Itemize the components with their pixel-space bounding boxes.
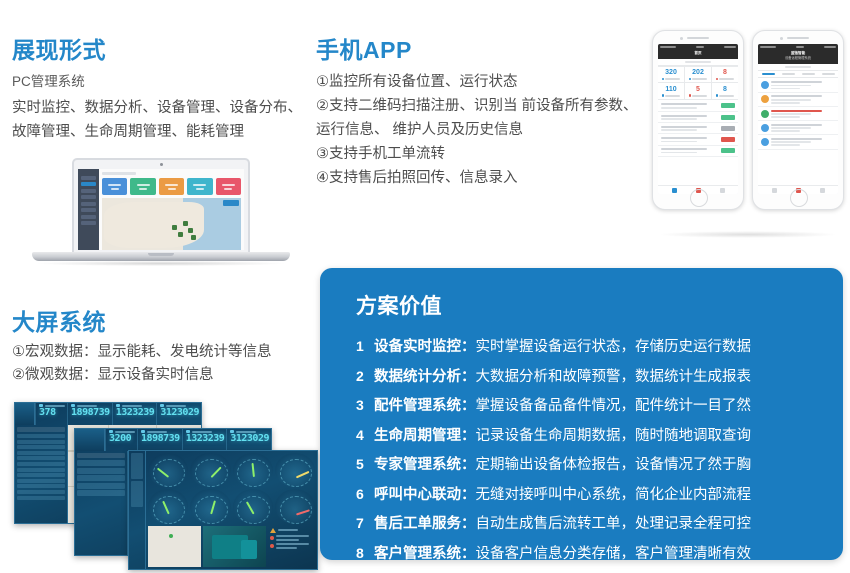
phone1-nav-title: 首页 xyxy=(658,49,738,59)
section-app: 手机APP ①监控所有设备位置、运行状态 ②支持二维码扫描注册、识别当 前设备所… xyxy=(316,38,646,190)
stat-card-green xyxy=(130,178,155,195)
list-item[interactable] xyxy=(758,135,838,149)
kpi-value: 378 xyxy=(39,407,65,419)
bigscreen2-logo xyxy=(75,429,105,451)
phones-shadow xyxy=(658,231,838,238)
value-item-colon: ： xyxy=(461,363,476,392)
value-item-name: 生命周期管理 xyxy=(374,422,461,451)
status-badge xyxy=(721,148,735,153)
value-item-colon: ： xyxy=(461,333,476,362)
value-item: 8客户管理系统：设备客户信息分类存储，客户管理清晰有效 xyxy=(356,539,817,569)
value-item: 5专家管理系统：定期输出设备体检报告，设备情况了然于胸 xyxy=(356,450,817,480)
value-item: 7售后工单服务：自动生成售后流转工单，处理记录全程可控 xyxy=(356,509,817,539)
dashboard-sidebar xyxy=(78,169,99,250)
laptop-shadow xyxy=(38,261,284,266)
value-item-desc: 定期输出设备体检报告，设备情况了然于胸 xyxy=(476,451,752,480)
device-row[interactable] xyxy=(17,490,65,494)
list-item[interactable] xyxy=(758,121,838,135)
section-bigscreen-title: 大屏系统 xyxy=(12,310,312,335)
kpi-value: 1323239 xyxy=(186,433,225,445)
section-bigscreen: 大屏系统 ①宏观数据：显示能耗、发电统计等信息 ②微观数据：显示设备实时信息 xyxy=(12,310,312,387)
device-row[interactable] xyxy=(17,484,65,488)
section-display-title: 展现形式 xyxy=(12,38,304,63)
value-item-name: 售后工单服务 xyxy=(374,510,461,539)
side-label xyxy=(131,453,143,479)
stat-value: 202 xyxy=(685,69,711,76)
value-item-desc: 掌握设备备品备件情况，配件统计一目了然 xyxy=(476,392,752,421)
filter-tab-task[interactable] xyxy=(802,73,815,75)
status-badge xyxy=(721,103,735,108)
sidebar-row-active xyxy=(81,182,96,186)
value-item-index: 8 xyxy=(356,539,374,568)
stat-dot-icon xyxy=(662,94,665,97)
phone-speaker xyxy=(687,37,709,39)
value-panel: 方案价值 1设备实时监控：实时掌握设备运行状态，存储历史运行数据2数据统计分析：… xyxy=(320,268,843,560)
stat-tile[interactable]: 5 xyxy=(685,83,711,99)
stat-card-row xyxy=(102,178,241,195)
filter-tab-all[interactable] xyxy=(762,73,775,75)
value-item-index: 2 xyxy=(356,362,374,391)
sidebar-row xyxy=(81,202,96,206)
alarm-dot-icon xyxy=(270,544,274,548)
breadcrumb xyxy=(102,172,136,175)
phone2-nav-subtitle: 设备远程管理系统 xyxy=(762,56,834,60)
laptop-camera-icon xyxy=(160,163,163,166)
dashboard-main xyxy=(99,169,244,250)
bigscreen2-kpi-bar: 3200 1898739 1323239 3123029 xyxy=(75,429,271,451)
value-item-index: 5 xyxy=(356,450,374,479)
list-item[interactable] xyxy=(658,146,738,157)
phone2-nav-title: 蓝驰智能 xyxy=(758,51,838,56)
bigscreen-dropdown[interactable] xyxy=(77,453,125,458)
stat-value: 5 xyxy=(685,86,711,93)
value-item-desc: 无缝对接呼叫中心系统，简化企业内部流程 xyxy=(476,481,752,510)
bigscreen1-logo xyxy=(15,403,35,425)
section-app-line-2: ②支持二维码扫描注册、识别当 前设备所有参数、 xyxy=(316,94,646,118)
gauge xyxy=(148,489,188,523)
value-item-colon: ： xyxy=(461,481,476,510)
control-button[interactable] xyxy=(77,483,125,489)
gauge xyxy=(275,453,315,487)
side-label xyxy=(131,481,143,507)
phone-camera-icon xyxy=(680,37,683,40)
gauge xyxy=(148,453,188,487)
stat-value: 110 xyxy=(658,86,684,93)
kpi-tile: 1898739 xyxy=(67,403,112,425)
device-row[interactable] xyxy=(17,468,65,472)
filter-tab-alarm[interactable] xyxy=(782,73,795,75)
list-item[interactable] xyxy=(658,123,738,134)
value-item-index: 7 xyxy=(356,509,374,538)
device-row[interactable] xyxy=(17,473,65,477)
bigscreen-search-box[interactable] xyxy=(17,427,65,432)
gauge xyxy=(233,489,273,523)
phone-home-button[interactable] xyxy=(790,189,808,207)
bigscreen-mockups: 378 1898739 1323239 3123029 xyxy=(8,398,320,568)
stat-tile[interactable]: 8 xyxy=(712,83,738,99)
map-legend-badge xyxy=(223,200,239,206)
stat-dot-icon xyxy=(689,94,692,97)
device-row[interactable] xyxy=(17,451,65,455)
laptop-screen xyxy=(78,169,244,250)
list-item[interactable] xyxy=(758,93,838,107)
bigscreen1-device-list xyxy=(15,425,68,523)
value-item-name: 客户管理系统 xyxy=(374,540,461,569)
warning-icon xyxy=(270,528,276,533)
value-item-name: 配件管理系统 xyxy=(374,392,461,421)
section-display: 展现形式 PC管理系统 实时监控、数据分析、设备管理、设备分布、故障管理、生命周… xyxy=(12,38,304,144)
china-map xyxy=(102,198,241,250)
stat-value: 8 xyxy=(712,69,738,76)
stat-tile[interactable]: 110 xyxy=(658,83,684,99)
avatar xyxy=(761,124,769,132)
map-pin xyxy=(188,228,193,233)
alarm-dot-icon xyxy=(270,536,274,540)
value-item: 1设备实时监控：实时掌握设备运行状态，存储历史运行数据 xyxy=(356,332,817,362)
kpi-tile: 1898739 xyxy=(137,429,182,451)
phone-mockup-home: 首页 320 202 8 xyxy=(652,30,744,210)
kpi-tile: 3123029 xyxy=(226,429,271,451)
phone2-search-bar[interactable] xyxy=(758,64,838,71)
value-item-name: 专家管理系统 xyxy=(374,451,461,480)
value-item-name: 呼叫中心联动 xyxy=(374,481,461,510)
stat-value: 8 xyxy=(712,86,738,93)
bigscreen1-kpi-bar: 378 1898739 1323239 3123029 xyxy=(15,403,201,425)
list-item[interactable] xyxy=(658,101,738,112)
map-pin xyxy=(178,232,183,237)
device-row[interactable] xyxy=(17,479,65,483)
kpi-tile: 3200 xyxy=(105,429,137,451)
sidebar-row xyxy=(81,189,96,193)
map-pin xyxy=(191,235,196,240)
gauge xyxy=(233,453,273,487)
laptop-notch xyxy=(148,253,174,256)
laptop-lid xyxy=(72,158,250,254)
avatar xyxy=(761,110,769,118)
map-pin xyxy=(172,225,177,230)
sidebar-row xyxy=(81,195,96,199)
bigscreen3-side-labels xyxy=(129,451,146,569)
phone-mockups: 首页 320 202 8 xyxy=(648,30,848,230)
phone1-stat-grid: 320 202 8 110 xyxy=(658,66,738,100)
gauge xyxy=(275,489,315,523)
kpi-tile: 1323239 xyxy=(112,403,157,425)
list-item[interactable] xyxy=(658,134,738,145)
value-item-desc: 自动生成售后流转工单，处理记录全程可控 xyxy=(476,510,752,539)
list-item[interactable] xyxy=(658,112,738,123)
status-badge xyxy=(721,126,735,131)
bigscreen3-gauge-panel xyxy=(146,451,317,569)
kpi-value: 3200 xyxy=(109,433,135,445)
phone-camera-icon xyxy=(780,37,783,40)
control-button[interactable] xyxy=(77,468,125,474)
value-item-desc: 大数据分析和故障预警，数据统计生成报表 xyxy=(476,363,752,392)
status-badge xyxy=(721,115,735,120)
device-row[interactable] xyxy=(17,440,65,444)
section-display-subtitle: PC管理系统 xyxy=(12,70,304,90)
kpi-value: 1898739 xyxy=(71,407,110,419)
section-app-title: 手机APP xyxy=(316,38,646,63)
gauge xyxy=(190,489,230,523)
bigscreen2-control-panel xyxy=(75,451,128,555)
phone-mockup-messages: 蓝驰智能 设备远程管理系统 xyxy=(752,30,844,210)
gauge xyxy=(190,453,230,487)
bigscreen-device-detail xyxy=(128,450,318,570)
control-button[interactable] xyxy=(77,490,125,496)
device-row[interactable] xyxy=(17,456,65,460)
stat-tile[interactable]: 320 xyxy=(658,67,684,83)
phone2-nav: 蓝驰智能 设备远程管理系统 xyxy=(758,49,838,64)
tab-me-icon[interactable] xyxy=(720,188,725,193)
device-row[interactable] xyxy=(17,445,65,449)
sidebar-row xyxy=(81,221,96,225)
value-item: 2数据统计分析：大数据分析和故障预警，数据统计生成报表 xyxy=(356,362,817,392)
stat-card-blue xyxy=(102,178,127,195)
value-item-colon: ： xyxy=(461,422,476,451)
value-item: 6呼叫中心联动：无缝对接呼叫中心系统，简化企业内部流程 xyxy=(356,480,817,510)
stat-card-teal xyxy=(187,178,212,195)
section-app-line-5: ④支持售后拍照回传、信息录入 xyxy=(316,166,646,190)
value-item-desc: 记录设备生命周期数据，随时随地调取查询 xyxy=(476,422,752,451)
phone1-nav-label: 首页 xyxy=(658,51,738,56)
control-button[interactable] xyxy=(77,475,125,481)
stat-card-orange xyxy=(159,178,184,195)
kpi-value: 3123029 xyxy=(230,433,269,445)
value-item-name: 设备实时监控 xyxy=(374,333,461,362)
value-item-colon: ： xyxy=(461,540,476,569)
avatar xyxy=(761,95,769,103)
value-item-desc: 设备客户信息分类存储，客户管理清晰有效 xyxy=(476,540,752,569)
phone2-message-list xyxy=(758,78,838,185)
phone1-device-list xyxy=(658,100,738,185)
value-item-index: 4 xyxy=(356,421,374,450)
avatar xyxy=(761,138,769,146)
phone1-search-bar[interactable] xyxy=(658,59,738,66)
phone2-filter-tabs[interactable] xyxy=(758,71,838,78)
stat-dot-icon xyxy=(662,78,665,81)
phone-home-button[interactable] xyxy=(690,189,708,207)
phone1-screen: 首页 320 202 8 xyxy=(658,44,738,194)
stat-tile[interactable]: 202 xyxy=(685,67,711,83)
tab-me-icon[interactable] xyxy=(820,188,825,193)
phone-speaker xyxy=(787,37,809,39)
tab-home-icon[interactable] xyxy=(672,188,677,193)
value-item-index: 3 xyxy=(356,391,374,420)
laptop-mockup xyxy=(32,158,290,273)
section-app-line-3: 运行信息、 维护人员及历史信息 xyxy=(316,118,646,142)
sidebar-row xyxy=(81,208,96,212)
value-item-index: 6 xyxy=(356,480,374,509)
value-item-name: 数据统计分析 xyxy=(374,363,461,392)
stat-dot-icon xyxy=(716,78,719,81)
device-row[interactable] xyxy=(17,496,65,500)
avatar xyxy=(761,81,769,89)
value-panel-title: 方案价值 xyxy=(356,290,817,320)
section-app-line-1: ①监控所有设备位置、运行状态 xyxy=(316,70,646,94)
stat-tile[interactable]: 8 xyxy=(712,67,738,83)
kpi-value: 1323239 xyxy=(116,407,155,419)
map-land xyxy=(104,202,204,248)
poster-root: 展现形式 PC管理系统 实时监控、数据分析、设备管理、设备分布、故障管理、生命周… xyxy=(0,0,850,573)
device-row[interactable] xyxy=(17,462,65,466)
bigscreen3-alarm-panel xyxy=(268,526,315,567)
kpi-tile: 3123029 xyxy=(156,403,201,425)
value-item-index: 1 xyxy=(356,332,374,361)
bigscreen3-device-photo xyxy=(203,526,266,567)
kpi-tile: 1323239 xyxy=(182,429,227,451)
value-item-list: 1设备实时监控：实时掌握设备运行状态，存储历史运行数据2数据统计分析：大数据分析… xyxy=(356,332,817,568)
phone2-screen: 蓝驰智能 设备远程管理系统 xyxy=(758,44,838,194)
tab-home-icon[interactable] xyxy=(772,188,777,193)
stat-dot-icon xyxy=(689,78,692,81)
list-item[interactable] xyxy=(758,107,838,121)
value-item-colon: ： xyxy=(461,392,476,421)
sidebar-row xyxy=(81,176,96,180)
value-item: 4生命周期管理：记录设备生命周期数据，随时随地调取查询 xyxy=(356,421,817,451)
value-item-colon: ： xyxy=(461,451,476,480)
bigscreen3-mini-map xyxy=(148,526,201,567)
stat-value: 320 xyxy=(658,69,684,76)
control-button[interactable] xyxy=(77,460,125,466)
filter-tab-notice[interactable] xyxy=(822,73,835,75)
value-item-desc: 实时掌握设备运行状态，存储历史运行数据 xyxy=(476,333,752,362)
kpi-value: 1898739 xyxy=(141,433,180,445)
section-display-description: 实时监控、数据分析、设备管理、设备分布、故障管理、生命周期管理、能耗管理 xyxy=(12,96,304,144)
map-pin xyxy=(183,221,188,226)
value-item: 3配件管理系统：掌握设备备品备件情况，配件统计一目了然 xyxy=(356,391,817,421)
device-row[interactable] xyxy=(17,434,65,438)
kpi-value: 3123029 xyxy=(160,407,199,419)
list-item[interactable] xyxy=(758,79,838,93)
stat-dot-icon xyxy=(716,94,719,97)
status-badge xyxy=(721,137,735,142)
sidebar-row xyxy=(81,215,96,219)
section-app-line-4: ③支持手机工单流转 xyxy=(316,142,646,166)
value-item-colon: ： xyxy=(461,510,476,539)
kpi-tile: 378 xyxy=(35,403,67,425)
section-bigscreen-line-1: ①宏观数据：显示能耗、发电统计等信息 xyxy=(12,341,312,364)
section-bigscreen-line-2: ②微观数据：显示设备实时信息 xyxy=(12,364,312,387)
stat-card-red xyxy=(216,178,241,195)
